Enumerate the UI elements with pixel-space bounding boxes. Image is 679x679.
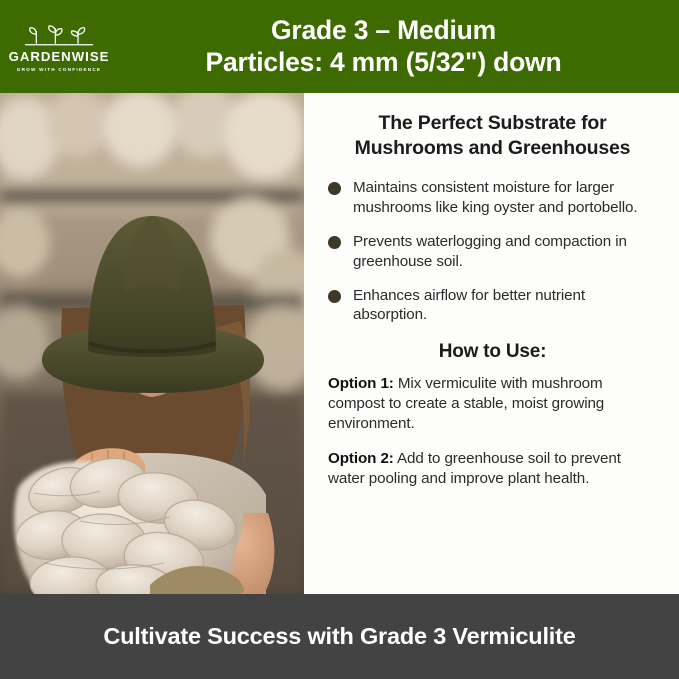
usage-option-2: Option 2: Add to greenhouse soil to prev… [328, 449, 657, 489]
option-2-label: Option 2: [328, 450, 394, 467]
brand-logo: GARDENWISE GROW WITH CONFIDENCE [0, 21, 118, 72]
footer-tagline: Cultivate Success with Grade 3 Vermiculi… [103, 623, 575, 650]
footer-banner: Cultivate Success with Grade 3 Vermiculi… [0, 594, 679, 679]
content-panel: The Perfect Substrate for Mushrooms and … [304, 93, 679, 594]
header-banner: GARDENWISE GROW WITH CONFIDENCE Grade 3 … [0, 0, 679, 93]
option-1-label: Option 1: [328, 375, 394, 392]
benefit-text: Enhances airflow for better nutrient abs… [353, 286, 657, 326]
body-section: The Perfect Substrate for Mushrooms and … [0, 93, 679, 594]
title-line-1: Grade 3 – Medium [118, 15, 649, 47]
subheading-line-2: Mushrooms and Greenhouses [328, 136, 657, 161]
sprout-seedling-icon [20, 23, 98, 49]
benefits-list: Maintains consistent moisture for larger… [328, 178, 657, 325]
usage-option-1: Option 1: Mix vermiculite with mushroom … [328, 374, 657, 434]
page-title: Grade 3 – Medium Particles: 4 mm (5/32")… [118, 15, 679, 79]
list-item: Prevents waterlogging and compaction in … [328, 232, 657, 272]
subheading-line-1: The Perfect Substrate for [328, 111, 657, 136]
product-infographic: GARDENWISE GROW WITH CONFIDENCE Grade 3 … [0, 0, 679, 679]
benefit-text: Maintains consistent moisture for larger… [353, 178, 657, 218]
list-item: Maintains consistent moisture for larger… [328, 178, 657, 218]
list-item: Enhances airflow for better nutrient abs… [328, 286, 657, 326]
bullet-dot-icon [328, 290, 341, 303]
brand-wordmark: GARDENWISE [9, 50, 110, 63]
brand-tagline: GROW WITH CONFIDENCE [17, 67, 101, 72]
product-photo [0, 93, 304, 594]
subheading: The Perfect Substrate for Mushrooms and … [328, 111, 657, 161]
title-line-2: Particles: 4 mm (5/32") down [118, 47, 649, 79]
benefit-text: Prevents waterlogging and compaction in … [353, 232, 657, 272]
how-to-use-heading: How to Use: [328, 341, 657, 363]
bullet-dot-icon [328, 182, 341, 195]
bullet-dot-icon [328, 236, 341, 249]
